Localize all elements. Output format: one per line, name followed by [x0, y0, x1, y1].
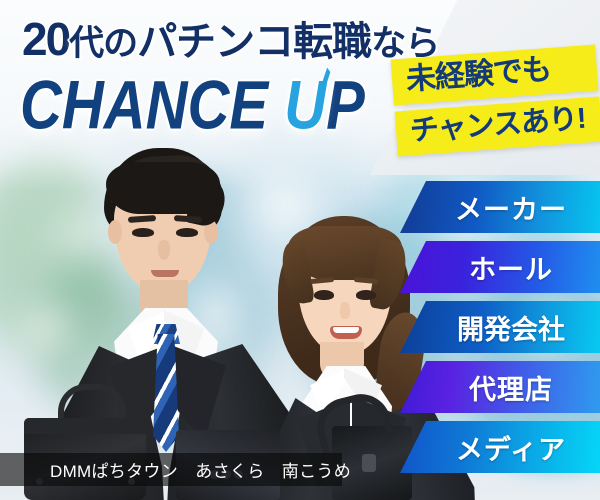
category-label-agency: 代理店 — [447, 368, 553, 407]
logo-text-chance: CHANCE — [20, 67, 284, 144]
headline-main: パチンコ転職 — [137, 20, 371, 64]
logo-letter-u: U — [284, 72, 326, 140]
promo-badge-line-2: チャンスあり! — [395, 97, 600, 157]
logo-chance-up: CHANCE UP — [20, 72, 365, 140]
category-label-media: メディア — [434, 428, 566, 467]
category-item-agency[interactable]: 代理店 — [400, 361, 600, 413]
category-item-maker[interactable]: メーカー — [400, 181, 600, 233]
category-label-development-company: 開発会社 — [435, 308, 565, 347]
category-item-hall[interactable]: ホール — [400, 241, 600, 293]
promo-badge-text-1: 未経験でも — [391, 45, 599, 106]
headline: 20代のパチンコ転職なら — [22, 16, 439, 62]
promo-badge-line-1: 未経験でも — [391, 45, 599, 106]
category-item-media[interactable]: メディア — [400, 421, 600, 473]
promo-badge-text-2: チャンスあり! — [395, 97, 600, 157]
headline-number: 20 — [22, 13, 69, 65]
category-label-hall: ホール — [447, 248, 553, 287]
category-list: メーカー ホール 開発会社 代理店 メディア — [400, 181, 600, 481]
category-label-maker: メーカー — [433, 188, 567, 227]
logo-letter-u-text: U — [284, 67, 326, 144]
headline-mid: 代の — [69, 24, 137, 63]
logo-text-p: P — [326, 67, 365, 144]
credit-band: DMMぱちタウン あさくら 南こうめ — [0, 453, 342, 486]
credit-text: DMMぱちタウン あさくら 南こうめ — [0, 457, 351, 482]
promo-badge: 未経験でも チャンスあり! — [392, 52, 600, 156]
category-item-development-company[interactable]: 開発会社 — [400, 301, 600, 353]
promo-banner: 20代のパチンコ転職なら CHANCE UP 未経験でも チャンスあり! メーカ… — [0, 0, 600, 500]
